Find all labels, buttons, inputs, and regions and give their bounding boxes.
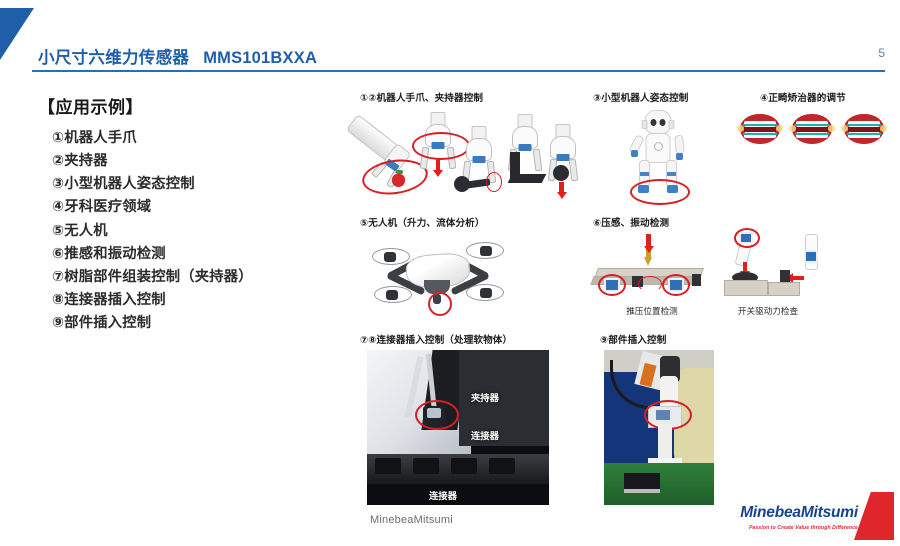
left-panel-heading: 【应用示例】 (38, 93, 338, 118)
highlight-ellipse (428, 292, 452, 316)
footer-brand-text: MinebeaMitsumi (370, 514, 453, 526)
brace-wire-upper (743, 124, 777, 126)
brace-wire-lower (743, 133, 777, 135)
ic-pins (624, 489, 660, 493)
robot-eye-left (651, 119, 657, 126)
switch-base (768, 282, 800, 296)
connector-part (375, 458, 401, 474)
dental-model (740, 114, 780, 144)
corner-wedge-decoration (0, 8, 34, 60)
highlight-ellipse (486, 172, 502, 192)
list-item: ⑧连接器插入控制 (52, 289, 338, 312)
sublabel-switch-force-check: 开关驱动力检查 (718, 305, 818, 317)
force-sensor-chip (519, 144, 532, 151)
page-title-model: MMS101BXXA (203, 49, 317, 67)
dental-model (792, 114, 832, 144)
down-arrow (559, 182, 564, 192)
application-list: ①机器人手爪 ②夹持器 ③小型机器人姿态控制 ④牙科医疗领域 ⑤无人机 ⑥推感和… (38, 127, 338, 335)
drone-motor (384, 252, 396, 262)
photo-part-insertion (604, 350, 714, 505)
left-arrow (793, 276, 804, 280)
robot-head (645, 110, 672, 134)
application-examples-panel: 【应用示例】 ①机器人手爪 ②夹持器 ③小型机器人姿态控制 ④牙科医疗领域 ⑤无… (38, 93, 338, 335)
brace-wire-upper (847, 124, 881, 126)
brace-wire-lower (847, 133, 881, 135)
slide-canvas: 小尺寸六维力传感器MMS101BXXA 5 【应用示例】 ①机器人手爪 ②夹持器… (0, 0, 900, 546)
force-spark (776, 125, 783, 132)
connector-part (413, 458, 439, 474)
logo-tagline: Passion to Create Value through Differen… (749, 525, 858, 531)
illustration-humanoid-robot (620, 110, 696, 200)
caption-robot-gripper-control: ①②机器人手爪、夹持器控制 (360, 90, 483, 104)
highlight-ellipse (662, 274, 690, 296)
caption-orthodontic-adjustment: ④正畸矫治器的调节 (760, 90, 846, 104)
logo-wordmark: MinebeaMitsumi (740, 504, 858, 522)
list-item: ②夹持器 (52, 150, 338, 173)
illustration-drone (372, 234, 522, 320)
robot-knee-right (667, 172, 676, 176)
force-spark (737, 125, 744, 132)
illustration-dental-models (738, 112, 888, 150)
list-item: ⑤无人机 (52, 220, 338, 243)
dental-model (844, 114, 884, 144)
block-object (692, 274, 701, 286)
robot-hand-left (631, 150, 638, 157)
force-sensor-chip (473, 156, 486, 163)
robot-ear-right (669, 120, 675, 129)
bracket-base (508, 174, 547, 183)
connector-part (451, 458, 477, 474)
robot-hand-right (676, 153, 683, 160)
force-spark (828, 125, 835, 132)
robot-arm-right (674, 135, 685, 155)
gripper-finger-right (569, 159, 579, 182)
photo-label-connector: 连接器 (471, 428, 499, 442)
list-item: ⑥推感和振动检测 (52, 243, 338, 266)
minebeamitsumi-logo: MinebeaMitsumi Passion to Create Value t… (738, 492, 894, 540)
force-sensor-chip (804, 250, 818, 263)
robot-eye-right (660, 119, 666, 126)
robot-ear-left (642, 120, 648, 129)
insertion-shaft (658, 424, 672, 462)
ball-object (553, 165, 569, 181)
highlight-ellipse (630, 179, 690, 205)
page-title: 小尺寸六维力传感器MMS101BXXA (38, 44, 317, 68)
down-arrow (743, 262, 747, 271)
logo-red-sweep (854, 492, 894, 540)
ic-chip (624, 473, 660, 489)
page-title-cn: 小尺寸六维力传感器 (38, 49, 189, 67)
drone-motor (480, 288, 492, 298)
down-arrow (646, 234, 651, 246)
robot-torso (646, 133, 671, 163)
gripper-finger-right (533, 149, 543, 172)
caption-drone-lift-fluid: ⑤无人机（升力、流体分析） (360, 215, 485, 229)
caption-part-insertion: ⑨部件插入控制 (600, 332, 666, 346)
down-arrow (436, 158, 440, 170)
list-item: ①机器人手爪 (52, 127, 338, 150)
illustration-switch-force (714, 228, 822, 300)
list-item: ③小型机器人姿态控制 (52, 173, 338, 196)
highlight-arc (638, 276, 662, 292)
force-spark (789, 125, 796, 132)
highlight-ellipse (415, 400, 459, 430)
list-item: ⑨部件插入控制 (52, 312, 338, 335)
robot-chest-light (654, 142, 663, 151)
photo-label-gripper: 夹持器 (471, 390, 499, 404)
sublabel-push-position-detection: 推压位置检测 (604, 305, 700, 317)
force-spark (880, 125, 887, 132)
highlight-ellipse (734, 228, 760, 248)
page-number: 5 (878, 46, 885, 60)
drone-motor (480, 246, 492, 256)
brace-wire-lower (795, 133, 829, 135)
caption-humanoid-posture-control: ③小型机器人姿态控制 (593, 90, 688, 104)
connector-part (489, 458, 515, 474)
highlight-ellipse (598, 274, 626, 296)
photo-connector-insertion: 夹持器 连接器 连接器 (367, 350, 549, 505)
photo-label-connector-tray: 连接器 (429, 488, 457, 502)
drone-motor (386, 290, 398, 300)
force-sensor-chip (557, 154, 570, 161)
force-spark (841, 125, 848, 132)
header-divider (32, 70, 885, 72)
robot-knee-left (640, 172, 649, 176)
list-item: ④牙科医疗领域 (52, 196, 338, 219)
illustration-robot-grippers (356, 108, 581, 200)
probe-tip (644, 257, 652, 266)
caption-press-vibration-detection: ⑥压感、振动检测 (593, 215, 669, 229)
caption-connector-insertion: ⑦⑧连接器插入控制（处理软物体） (360, 332, 512, 346)
brace-wire-upper (795, 124, 829, 126)
switch-base (724, 280, 768, 296)
illustration-push-position (596, 236, 706, 298)
list-item: ⑦树脂部件组装控制（夹持器） (52, 266, 338, 289)
